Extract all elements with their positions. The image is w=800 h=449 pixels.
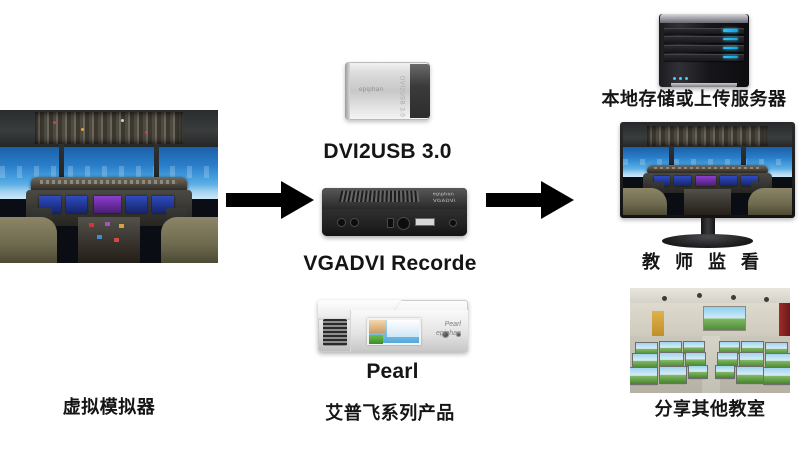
projection-screen xyxy=(704,307,746,330)
cockpit-seat-left xyxy=(0,217,57,263)
student-monitor xyxy=(740,353,762,367)
cockpit-center-pedestal xyxy=(78,217,139,263)
arrow-middle-to-right xyxy=(486,178,574,222)
epiphan-logo: epiphan xyxy=(359,87,383,93)
nas-server-image xyxy=(650,6,758,92)
device-vgadvi-recorder-image: epiphanVGADVI xyxy=(322,188,467,236)
caption-epiphan-product-series: 艾普飞系列产品 xyxy=(290,404,490,424)
student-monitor xyxy=(737,367,763,383)
student-monitor xyxy=(716,366,734,379)
teacher-monitor-image xyxy=(620,122,795,248)
cockpit-simulator-photo xyxy=(0,110,218,263)
caption-share-other-classrooms: 分享其他教室 xyxy=(615,400,800,420)
arrow-left-to-middle xyxy=(226,178,314,222)
recorder-brand-text: epiphanVGADVI xyxy=(432,192,457,205)
pearl-status-led xyxy=(456,332,461,337)
caption-virtual-simulator: 虚拟模拟器 xyxy=(0,398,218,418)
caption-teacher-monitoring: 教 师 监 看 xyxy=(608,253,798,273)
student-monitor xyxy=(630,368,657,384)
nas-status-leds xyxy=(673,77,688,80)
cockpit-overhead-panel xyxy=(35,112,183,144)
device-dvi2usb-image: epiphan DVI2USB 3.0 xyxy=(345,62,430,120)
label-vgadvi-recorder: VGADVI Recorde xyxy=(290,252,490,275)
student-monitor xyxy=(718,353,737,366)
dvi2usb-side-label: DVI2USB 3.0 xyxy=(399,76,405,117)
student-monitor xyxy=(686,353,705,366)
student-monitor xyxy=(660,367,686,383)
student-monitor xyxy=(684,342,703,354)
student-monitor xyxy=(720,342,739,354)
device-pearl-image: Pearlepiphan xyxy=(318,300,468,352)
cockpit-seat-right xyxy=(161,217,218,263)
student-monitor xyxy=(766,354,790,368)
diagram-canvas: 虚拟模拟器 epiphan DVI2USB 3.0 DVI2USB 3.0 ep… xyxy=(0,0,800,449)
classroom-photo xyxy=(630,288,790,393)
classroom-door xyxy=(652,311,663,336)
student-monitor xyxy=(633,354,657,368)
pearl-touchscreen[interactable] xyxy=(367,318,421,345)
label-pearl: Pearl xyxy=(310,360,475,383)
label-dvi2usb: DVI2USB 3.0 xyxy=(300,140,475,163)
student-monitor xyxy=(764,368,790,384)
caption-local-storage-or-upload-server: 本地存储或上传服务器 xyxy=(588,90,800,110)
student-monitor xyxy=(660,353,682,367)
pearl-vent-grille xyxy=(323,319,347,346)
student-monitor xyxy=(689,366,707,379)
